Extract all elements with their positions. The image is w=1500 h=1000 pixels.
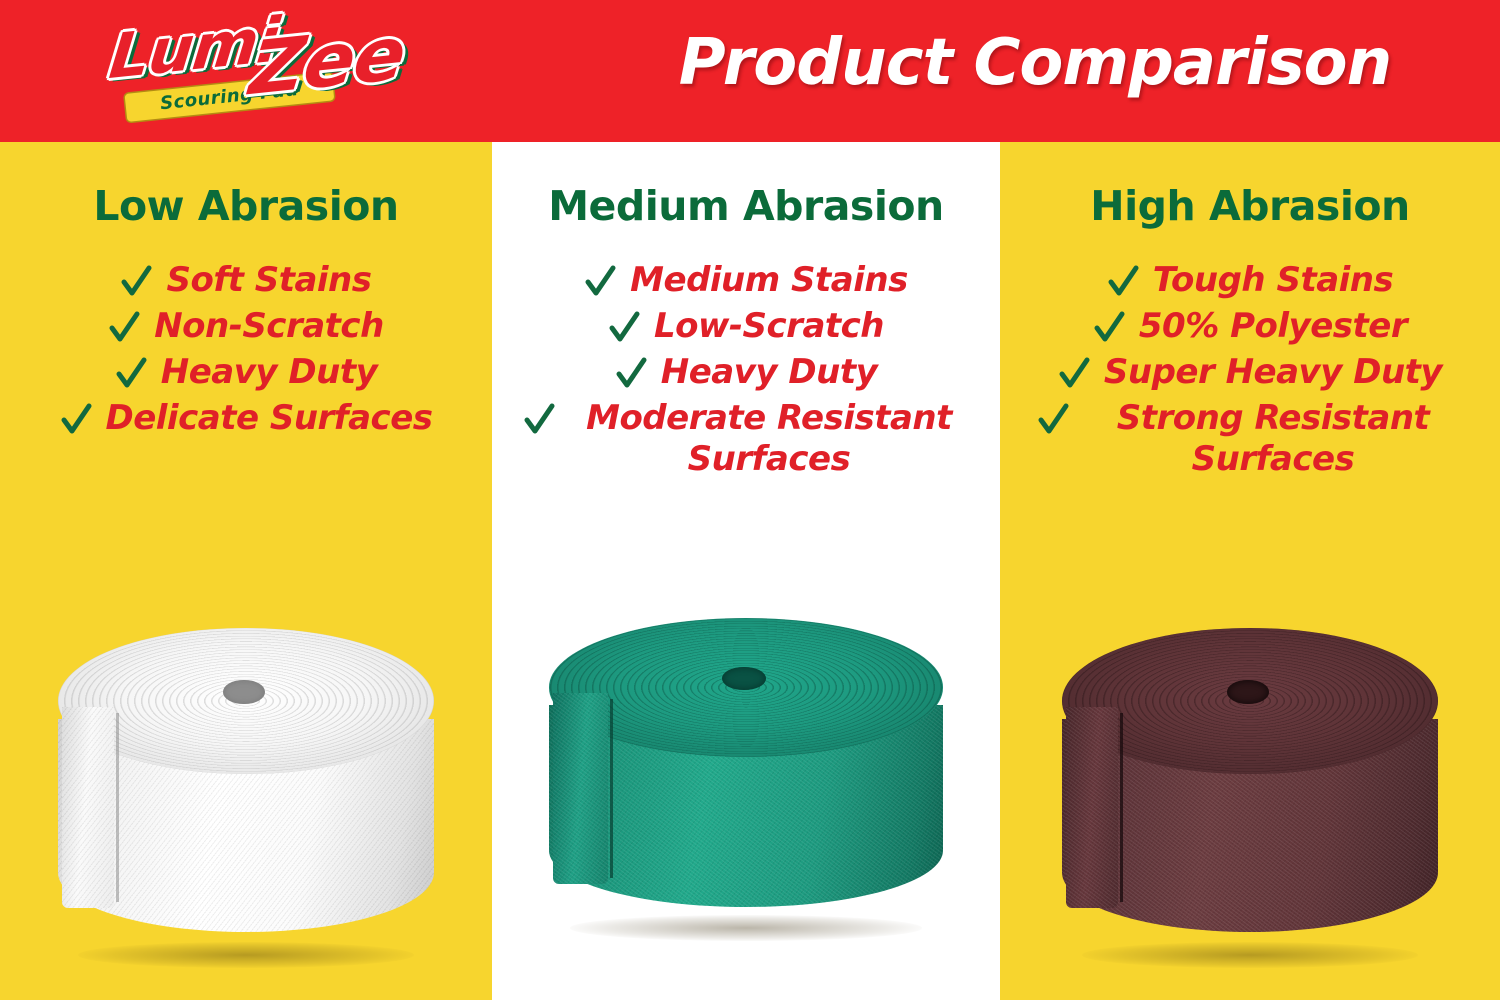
feature-label: Medium Stains <box>630 260 908 301</box>
product-roll-body <box>58 628 434 932</box>
feature-label: Non-Scratch <box>154 306 384 347</box>
feature-label: Strong Resistant Surfaces <box>1083 398 1463 480</box>
column-medium-abrasion: Medium Abrasion Medium Stains Low-Scratc… <box>492 142 1000 1000</box>
feature-list-low-abrasion: Soft Stains Non-Scratch Heavy Duty <box>0 260 492 444</box>
check-icon <box>523 400 555 440</box>
feature-item: Non-Scratch <box>0 306 492 348</box>
feature-label: Delicate Surfaces <box>106 398 433 439</box>
check-icon <box>615 354 647 394</box>
product-comparison-infographic: Scouring Pad Lumi Zee Product Comparison… <box>0 0 1500 1000</box>
product-roll-body <box>1062 628 1438 932</box>
check-icon <box>60 400 92 440</box>
roll-core-hole <box>1227 680 1268 704</box>
feature-item: Medium Stains <box>492 260 1000 302</box>
feature-list-high-abrasion: Tough Stains 50% Polyester Super Heavy D… <box>1000 260 1500 484</box>
feature-item: Strong Resistant Surfaces <box>1000 398 1500 480</box>
feature-label: Moderate Resistant Surfaces <box>569 398 969 480</box>
roll-texture <box>553 693 608 884</box>
check-icon <box>1058 354 1090 394</box>
column-heading-high-abrasion: High Abrasion <box>1000 182 1500 230</box>
roll-seam-line <box>610 699 613 878</box>
feature-label: Soft Stains <box>166 260 371 301</box>
column-heading-medium-abrasion: Medium Abrasion <box>492 182 1000 230</box>
header-bar: Scouring Pad Lumi Zee Product Comparison <box>0 0 1500 142</box>
roll-loose-flap <box>1066 707 1119 908</box>
roll-seam-line <box>1120 713 1123 901</box>
check-icon <box>1093 308 1125 348</box>
product-image-green-scouring-pad-roll <box>536 565 956 945</box>
feature-item: Heavy Duty <box>0 352 492 394</box>
feature-item: Low-Scratch <box>492 306 1000 348</box>
roll-texture <box>62 707 115 908</box>
page-title: Product Comparison <box>600 26 1470 100</box>
column-heading-low-abrasion: Low Abrasion <box>0 182 492 230</box>
product-shadow <box>570 915 923 941</box>
feature-label: Heavy Duty <box>161 352 377 393</box>
feature-label: Tough Stains <box>1153 260 1394 301</box>
check-icon <box>1037 400 1069 440</box>
product-image-white-scouring-pad-roll <box>46 572 446 972</box>
feature-item: 50% Polyester <box>1000 306 1500 348</box>
feature-item: Delicate Surfaces <box>0 398 492 440</box>
roll-texture <box>1066 707 1119 908</box>
feature-label: Low-Scratch <box>654 306 884 347</box>
feature-label: Heavy Duty <box>661 352 877 393</box>
feature-label: 50% Polyester <box>1139 306 1407 347</box>
check-icon <box>608 308 640 348</box>
column-low-abrasion: Low Abrasion Soft Stains Non-Scratch <box>0 142 492 1000</box>
check-icon <box>108 308 140 348</box>
feature-item: Moderate Resistant Surfaces <box>492 398 1000 480</box>
feature-item: Heavy Duty <box>492 352 1000 394</box>
roll-core-hole <box>223 680 264 704</box>
feature-label: Super Heavy Duty <box>1104 352 1442 393</box>
check-icon <box>584 262 616 302</box>
brand-logo: Scouring Pad Lumi Zee <box>96 14 396 129</box>
feature-list-medium-abrasion: Medium Stains Low-Scratch Heavy Duty <box>492 260 1000 484</box>
product-shadow <box>1082 942 1418 968</box>
feature-item: Super Heavy Duty <box>1000 352 1500 394</box>
comparison-columns: Low Abrasion Soft Stains Non-Scratch <box>0 142 1500 1000</box>
feature-item: Soft Stains <box>0 260 492 302</box>
product-shadow <box>78 942 414 968</box>
roll-seam-line <box>116 713 119 901</box>
brand-name-zee: Zee <box>246 11 409 112</box>
check-icon <box>120 262 152 302</box>
feature-item: Tough Stains <box>1000 260 1500 302</box>
product-image-brown-scouring-pad-roll <box>1050 572 1450 972</box>
roll-loose-flap <box>553 693 608 884</box>
product-roll-body <box>549 618 944 907</box>
check-icon <box>1107 262 1139 302</box>
column-high-abrasion: High Abrasion Tough Stains 50% Polyester <box>1000 142 1500 1000</box>
check-icon <box>115 354 147 394</box>
roll-loose-flap <box>62 707 115 908</box>
